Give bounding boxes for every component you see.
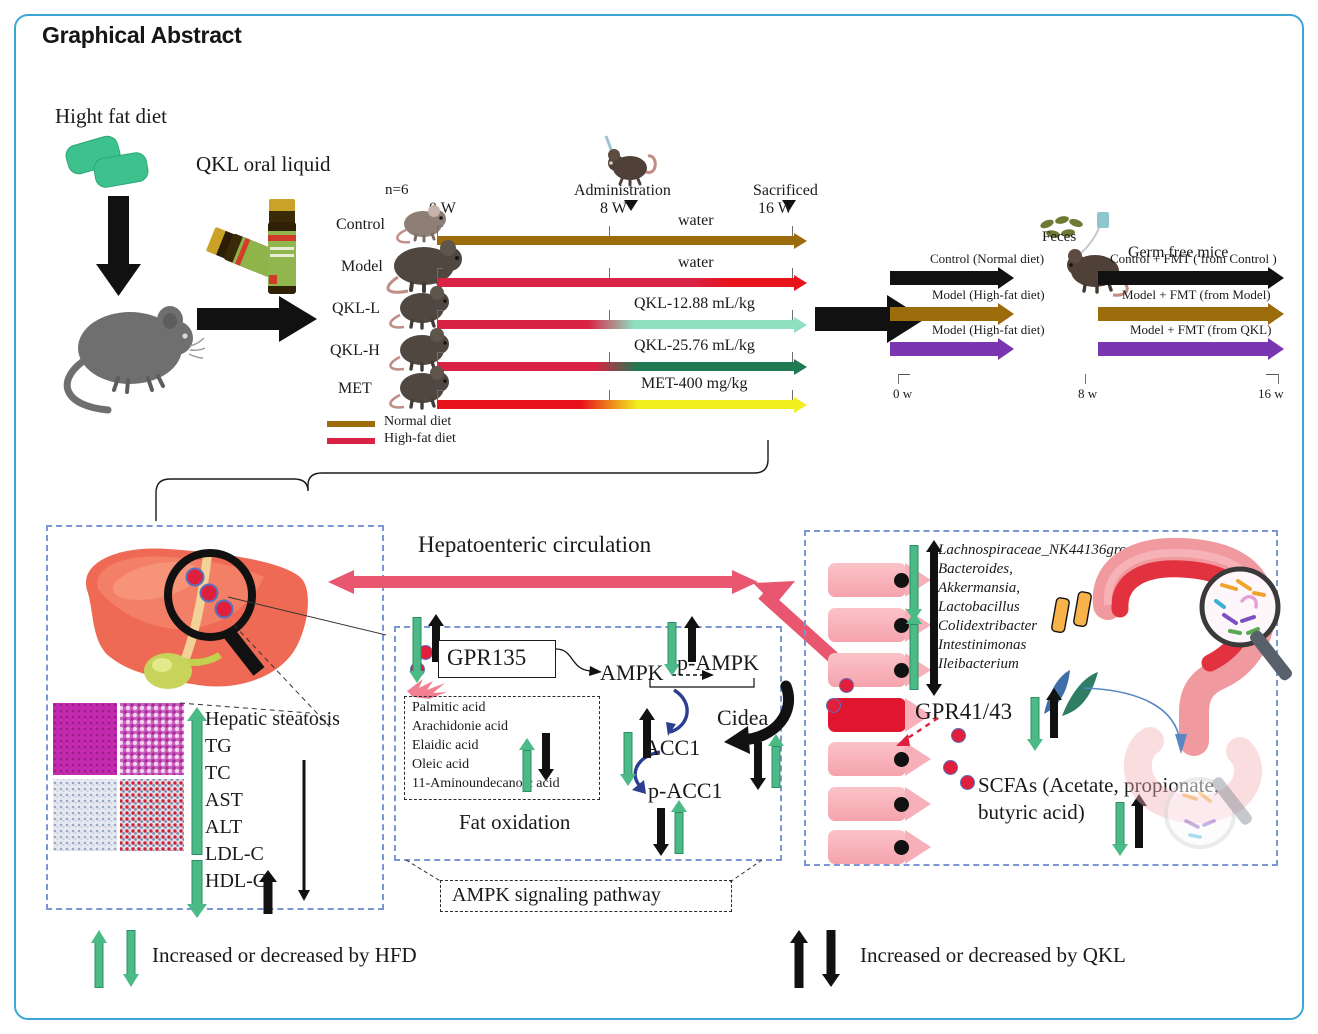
feces-label: Feces (1042, 229, 1076, 246)
gpr135-label: GPR135 (447, 645, 526, 671)
group-label-model: Model (341, 258, 383, 276)
scfa-droplet-2 (943, 760, 958, 775)
timeline-cap-0-met (437, 390, 443, 391)
timeline-cap-0-control (437, 226, 443, 227)
acc1-label: ACC1 (644, 735, 700, 761)
qkl-bottle-icon (195, 195, 320, 300)
group-label-qkl-l: QKL-L (332, 300, 380, 318)
group-label-qkl-h: QKL-H (330, 342, 380, 360)
metabolite-elaidic-acid: Elaidic acid (412, 738, 478, 754)
metabolite-green-up-indicator (519, 738, 535, 794)
gpr135-green-down-indicator (409, 617, 425, 687)
sample-size-label: n=6 (385, 182, 408, 199)
week-8-label: 8 W (600, 200, 627, 218)
mouse-icon-large (52, 290, 212, 420)
liver-marker-hdl-c: HDL-C (205, 870, 266, 893)
scfa-droplet-1 (951, 728, 966, 743)
gavage-mouse-icon (588, 132, 662, 184)
liver-marker-tc: TC (205, 762, 231, 785)
section-brace (150, 435, 850, 525)
ampk-pathway-label: AMPK signaling pathway (452, 884, 661, 907)
sacrificed-label: Sacrificed (753, 182, 818, 200)
treatment-label-met: MET-400 mg/kg (641, 375, 748, 393)
gpr41-43-dotted-connector (890, 710, 946, 756)
legend-hfd-label: Increased or decreased by HFD (152, 943, 417, 968)
fmt-axis-start-label: 0 w (893, 386, 912, 402)
hdl-down-indicator (187, 860, 207, 920)
p-ampk-label: p-AMPK (677, 650, 759, 676)
taxon-bacteroides: Bacteroides, (938, 561, 1013, 578)
taxon-lactobacillus: Lactobacillus (938, 599, 1020, 616)
fmt-post-label-control: Control + FMT ( from Control ) (1110, 251, 1277, 267)
treatment-label-control: water (678, 212, 714, 230)
qkl-to-groups-arrow (197, 296, 317, 342)
legend-hfd-down-indicator (122, 930, 140, 990)
cidea-black-down-indicator (750, 742, 766, 794)
legend-qkl-up-indicator (790, 930, 808, 990)
cidea-label: Cidea (717, 705, 768, 731)
lipid-droplet-gut-1 (839, 678, 854, 693)
lipid-droplet-gut-2 (826, 698, 841, 713)
metabolite-arachidonie-acid: Arachidonie acid (412, 719, 508, 735)
legend-normal-diet-label: Normal diet (384, 414, 451, 430)
taxon-akkermansia: Akkermansia, (938, 580, 1020, 597)
fmt-post-label-qkl: Model + FMT (from QKL) (1130, 322, 1271, 338)
treatment-label-model: water (678, 254, 714, 272)
group-label-control: Control (336, 216, 385, 234)
fmt-pre-arrow-control (890, 267, 1014, 289)
bacteria-to-colon-arrow (1080, 680, 1210, 770)
scfa-label-line2: butyric acid) (978, 800, 1085, 825)
page-title: Graphical Abstract (42, 22, 242, 49)
fmt-pre-arrow-qkl (890, 338, 1014, 360)
timeline-cap-0-model (437, 268, 443, 269)
timeline-cap-0-qkl-l (437, 310, 443, 311)
taxon-ileibacterium: Ileibacterium (938, 656, 1019, 673)
administration-label: Administration (574, 182, 671, 200)
liver-marker-ast: AST (205, 789, 243, 812)
timeline-bar-model (437, 278, 807, 287)
pacc1-green-up-indicator (671, 800, 687, 856)
metabolite-black-down-indicator (538, 733, 554, 785)
week-16-label: 16 W (758, 200, 793, 218)
acc1-green-down-indicator (620, 732, 636, 790)
fmt-post-arrow-control (1098, 267, 1284, 289)
high-fat-diet-label: Hight fat diet (55, 104, 167, 129)
scfa-droplet-3 (960, 775, 975, 790)
liver-markers-down-indicator (297, 760, 311, 908)
fmt-post-arrow-qkl (1098, 338, 1284, 360)
legend-qkl-label: Increased or decreased by QKL (860, 943, 1126, 968)
metabolite-palmitic-acid: Palmitic acid (412, 700, 485, 716)
taxon-colidextribacter: Colidextribacter (938, 618, 1037, 635)
gpr-green-down-indicator (1027, 697, 1043, 755)
fmt-axis-mid-label: 8 w (1078, 386, 1097, 402)
liver-marker-alt: ALT (205, 816, 242, 839)
hepatoenteric-circulation-label: Hepatoenteric circulation (418, 532, 651, 558)
taxon-intestinimonas: Intestinimonas (938, 637, 1026, 654)
timeline-cap-0-qkl-h (437, 352, 443, 353)
liver-marker-ldl-c: LDL-C (205, 843, 264, 866)
timeline-bar-met (437, 400, 807, 409)
treatment-label-qkl-h: QKL-25.76 mL/kg (634, 337, 755, 355)
group-label-met: MET (338, 380, 372, 398)
liver-leader-lines (150, 585, 410, 745)
fmt-pre-label-model: Model (High-fat diet) (932, 287, 1045, 303)
timeline-bar-qkl-h (437, 362, 807, 371)
pacc1-black-down-indicator (653, 808, 669, 860)
fat-oxidation-label: Fat oxidation (459, 810, 570, 835)
legend-hfd-up-indicator (90, 930, 108, 990)
qkl-oral-liquid-label: QKL oral liquid (196, 152, 331, 177)
taxa2-green-up-indicator (906, 612, 922, 692)
fmt-pre-label-control: Control (Normal diet) (930, 251, 1044, 267)
fmt-axis-end-label: 16 w (1258, 386, 1284, 402)
timeline-bar-qkl-l (437, 320, 807, 329)
legend-qkl-down-indicator (822, 930, 840, 990)
cidea-green-up-indicator (768, 734, 784, 790)
treatment-label-qkl-l: QKL-12.88 mL/kg (634, 295, 755, 313)
timeline-bar-control (437, 236, 807, 245)
fmt-pre-label-qkl: Model (High-fat diet) (932, 322, 1045, 338)
fmt-post-label-model: Model + FMT (from Model) (1122, 287, 1271, 303)
hfd-to-mouse-arrow (96, 196, 142, 296)
gpr-black-up-indicator (1046, 688, 1062, 740)
metabolite-oleic-acid: Oleic acid (412, 757, 469, 773)
